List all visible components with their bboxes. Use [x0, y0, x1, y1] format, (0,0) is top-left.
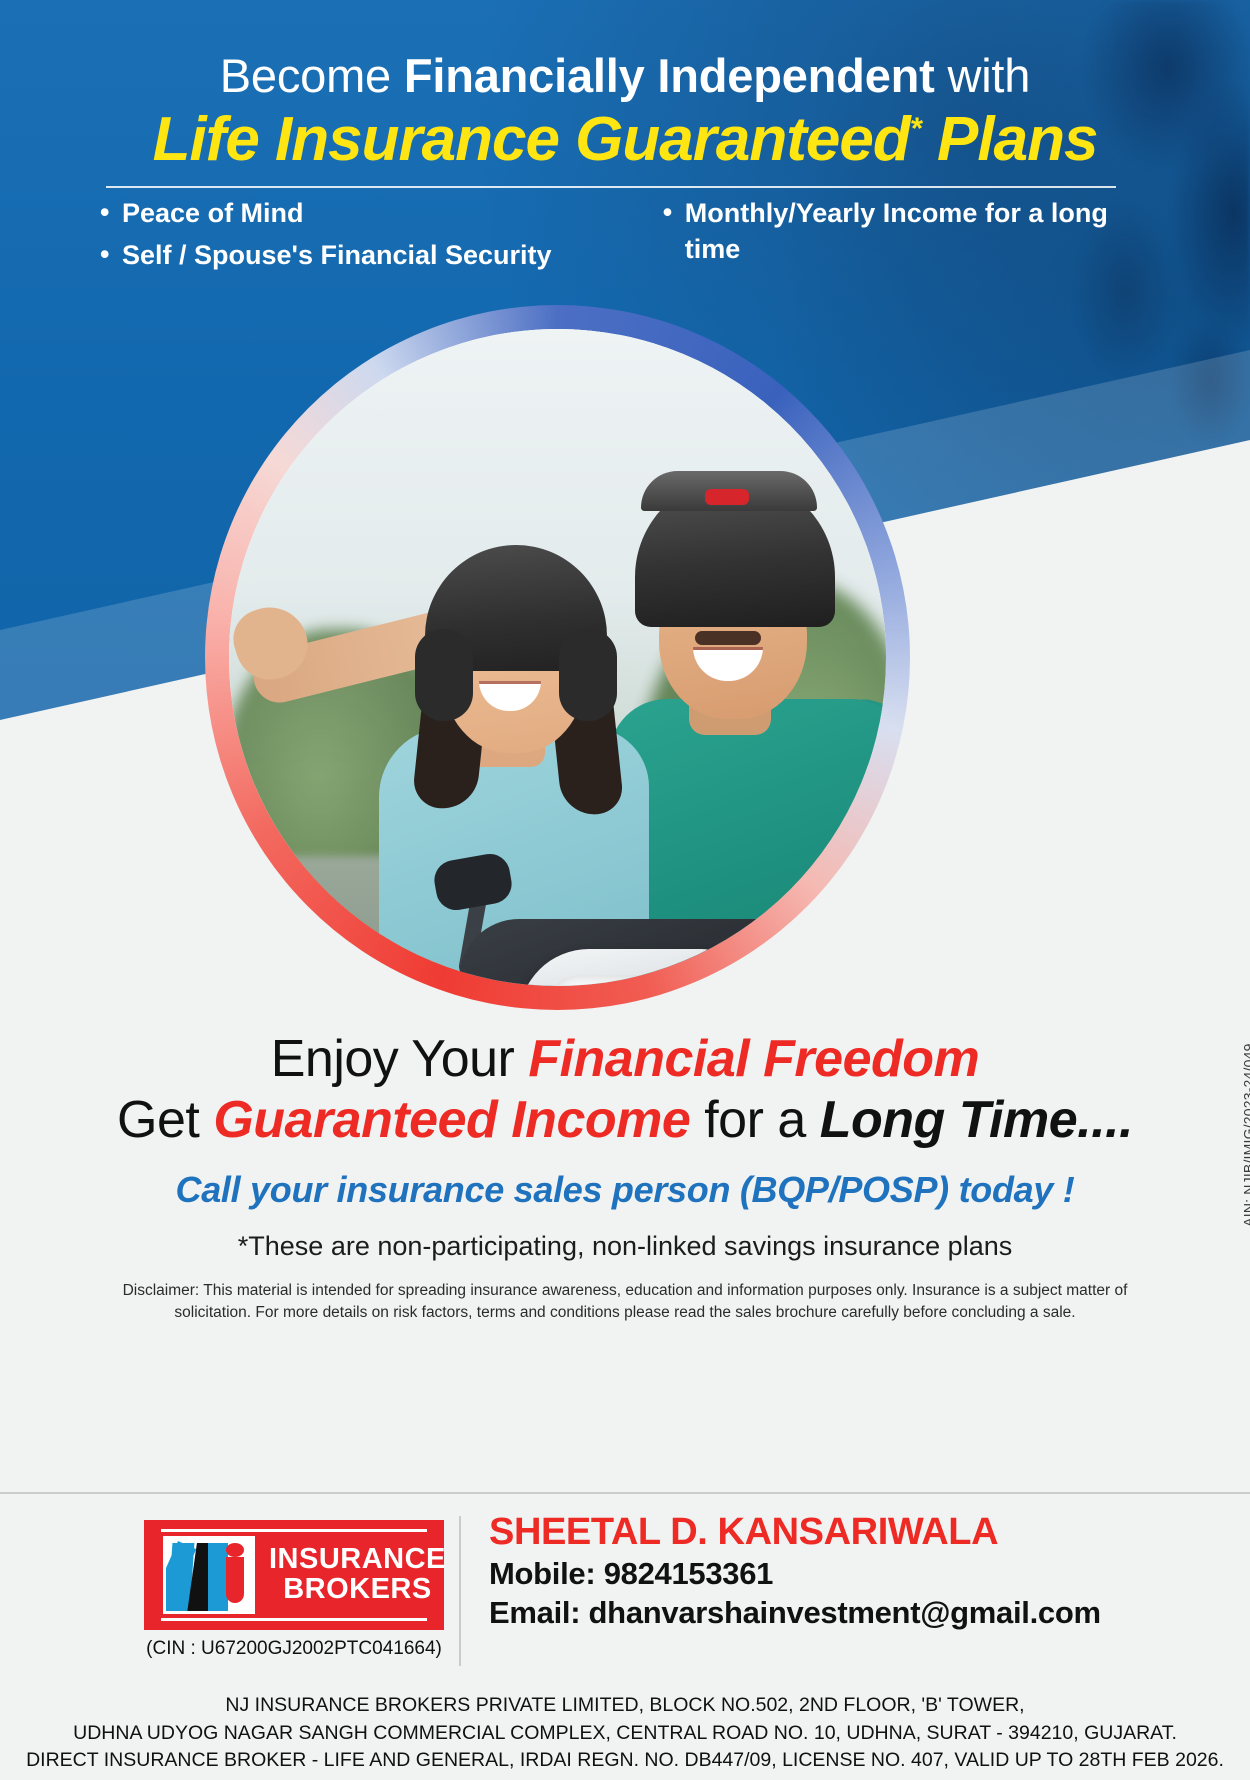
ain-reference-code: AIN: NJIB/IMIG/2023-24/049 [1240, 1043, 1250, 1226]
call-to-action-text: Call your insurance sales person (BQP/PO… [0, 1169, 1250, 1211]
product-footnote: *These are non-participating, non-linked… [0, 1231, 1250, 1262]
hero-photo-ring [205, 305, 910, 1010]
logo-word-line-2: BROKERS [269, 1575, 446, 1605]
tagline-line2-plain-a: Get [117, 1091, 213, 1149]
brand-logo-column: INSURANCE BROKERS (CIN : U67200GJ2002PTC… [129, 1512, 459, 1660]
agent-mobile[interactable]: Mobile: 9824153361 [489, 1554, 1121, 1593]
woman-helmet-pad-right [559, 629, 617, 721]
benefit-item: Monthly/Yearly Income for a long time [663, 196, 1120, 268]
tagline-line2-accent: Guaranteed Income [213, 1091, 690, 1149]
tagline-line-2: Get Guaranteed Income for a Long Time...… [0, 1091, 1250, 1150]
address-line-3: DIRECT INSURANCE BROKER - LIFE AND GENER… [0, 1747, 1250, 1775]
footer-separator [0, 1492, 1250, 1494]
benefits-column-left: Peace of Mind Self / Spouse's Financial … [100, 196, 605, 280]
contact-strip: INSURANCE BROKERS (CIN : U67200GJ2002PTC… [0, 1512, 1250, 1682]
headline-block: Become Financially Independent with Life… [0, 48, 1250, 173]
hero-photo [229, 329, 886, 986]
headline-prefix: Become [220, 49, 404, 102]
man-helmet-red-stripe [705, 489, 749, 505]
company-address-block: NJ INSURANCE BROKERS PRIVATE LIMITED, BL… [0, 1692, 1250, 1775]
asterisk-marker: * [910, 110, 921, 145]
benefit-item: Self / Spouse's Financial Security [100, 238, 605, 274]
headline-product: Life Insurance Guaranteed [153, 105, 910, 174]
headline-suffix: with [935, 49, 1031, 102]
woman-helmet-pad-left [415, 629, 473, 721]
agent-details: SHEETAL D. KANSARIWALA Mobile: 982415336… [461, 1512, 1121, 1632]
tagline-block: Enjoy Your Financial Freedom Get Guarant… [0, 1030, 1250, 1325]
tagline-line2-plain-b: for a [690, 1091, 819, 1149]
headline-line-2: Life Insurance Guaranteed* Plans [0, 107, 1250, 173]
agent-email[interactable]: Email: dhanvarshainvestment@gmail.com [489, 1593, 1121, 1632]
benefits-column-right: Monthly/Yearly Income for a long time [615, 196, 1120, 280]
benefit-item: Peace of Mind [100, 196, 605, 232]
tagline-line-1: Enjoy Your Financial Freedom [0, 1030, 1250, 1089]
headline-emphasis: Financially Independent [404, 49, 935, 102]
address-line-1: NJ INSURANCE BROKERS PRIVATE LIMITED, BL… [0, 1692, 1250, 1720]
tagline-line2-bold: Long Time.... [820, 1091, 1133, 1149]
tagline-line1-plain: Enjoy Your [271, 1030, 529, 1088]
logo-wordmark: INSURANCE BROKERS [269, 1545, 446, 1604]
address-line-2: UDHNA UDYOG NAGAR SANGH COMMERCIAL COMPL… [0, 1720, 1250, 1748]
tagline-line1-accent: Financial Freedom [528, 1030, 979, 1088]
agent-name: SHEETAL D. KANSARIWALA [489, 1512, 1121, 1554]
headline-divider [106, 186, 1116, 188]
man-moustache [695, 631, 761, 645]
logo-word-line-1: INSURANCE [269, 1545, 446, 1575]
nj-insurance-brokers-logo: INSURANCE BROKERS [144, 1520, 444, 1630]
poster-root: Become Financially Independent with Life… [0, 0, 1250, 1780]
company-cin: (CIN : U67200GJ2002PTC041664) [129, 1638, 459, 1660]
headline-line-1: Become Financially Independent with [0, 48, 1250, 103]
benefits-list: Peace of Mind Self / Spouse's Financial … [100, 196, 1120, 280]
headline-product-tail: Plans [921, 105, 1098, 174]
nj-monogram-icon [163, 1536, 255, 1614]
disclaimer-text: Disclaimer: This material is intended fo… [110, 1280, 1140, 1325]
